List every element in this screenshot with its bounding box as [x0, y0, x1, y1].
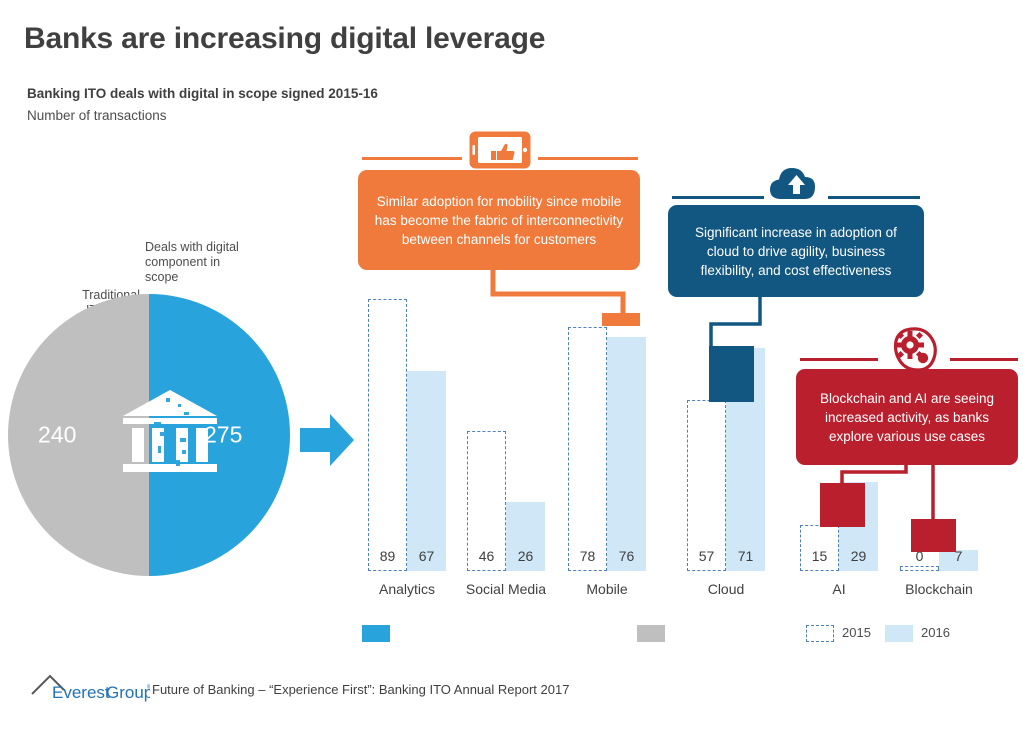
bar-2015-analytics[interactable]	[368, 299, 407, 571]
tablet-thumbs-up-icon	[468, 130, 532, 170]
bar-value-2015-blockchain: 0	[900, 548, 939, 564]
category-label-ai: AI	[789, 581, 889, 597]
legend-label-2015: 2015	[842, 625, 871, 640]
bar-2015-cloud[interactable]	[687, 400, 726, 571]
callout-rule-right-red	[950, 358, 1018, 361]
bar-value-2016-social-media: 26	[506, 548, 545, 564]
cloud-upload-icon	[768, 163, 824, 201]
bar-2015-mobile[interactable]	[568, 327, 607, 571]
legend-swatch-2016	[885, 625, 913, 642]
callout-rule-left-blue	[672, 196, 764, 199]
bar-value-2016-analytics: 67	[407, 548, 446, 564]
callout-connector-blue	[700, 296, 764, 356]
legend-label-2016: 2016	[921, 625, 950, 640]
callout-rule-right-orange	[538, 157, 638, 160]
callout-cloud: Significant increase in adoption of clou…	[668, 205, 924, 297]
bar-value-2016-blockchain: 7	[939, 548, 978, 564]
bar-value-2015-cloud: 57	[687, 548, 726, 564]
category-label-blockchain: Blockchain	[889, 581, 989, 597]
bar-value-2015-analytics: 89	[368, 548, 407, 564]
bar-value-2016-mobile: 76	[607, 548, 646, 564]
footer-source-text: Future of Banking – “Experience First”: …	[152, 682, 569, 697]
category-label-cloud: Cloud	[676, 581, 776, 597]
svg-text:Everest: Everest	[52, 683, 110, 702]
bar-chart: 89 67 Analytics 46 26 Social Media 78 76…	[0, 0, 1023, 729]
legend-swatch-traditional	[637, 625, 665, 642]
brain-gear-icon	[890, 327, 940, 373]
bar-value-2015-ai: 15	[800, 548, 839, 564]
category-label-social-media: Social Media	[446, 581, 566, 597]
bar-value-2016-cloud: 71	[726, 548, 765, 564]
callout-ai-blockchain: Blockchain and AI are seeing increased a…	[796, 369, 1018, 465]
callout-mobility: Similar adoption for mobility since mobi…	[358, 170, 640, 270]
svg-text:®: ®	[147, 684, 150, 691]
bar-2016-mobile[interactable]	[607, 337, 646, 571]
category-label-analytics: Analytics	[357, 581, 457, 597]
callout-rule-left-red	[800, 358, 878, 361]
bar-2016-analytics[interactable]	[407, 371, 446, 571]
callout-connector-orange	[486, 268, 640, 332]
bar-value-2015-social-media: 46	[467, 548, 506, 564]
bar-value-2015-mobile: 78	[568, 548, 607, 564]
callout-rule-right-blue	[828, 196, 920, 199]
svg-text:Group: Group	[106, 683, 150, 702]
legend-swatch-digital	[362, 625, 390, 642]
callout-rule-left-orange	[362, 157, 462, 160]
callout-connector-red	[830, 464, 940, 526]
legend-swatch-2015	[806, 625, 834, 642]
bar-value-2016-ai: 29	[839, 548, 878, 564]
everest-group-logo: Everest Group ®	[30, 672, 150, 706]
category-label-mobile: Mobile	[557, 581, 657, 597]
bar-2015-blockchain[interactable]	[900, 566, 939, 571]
